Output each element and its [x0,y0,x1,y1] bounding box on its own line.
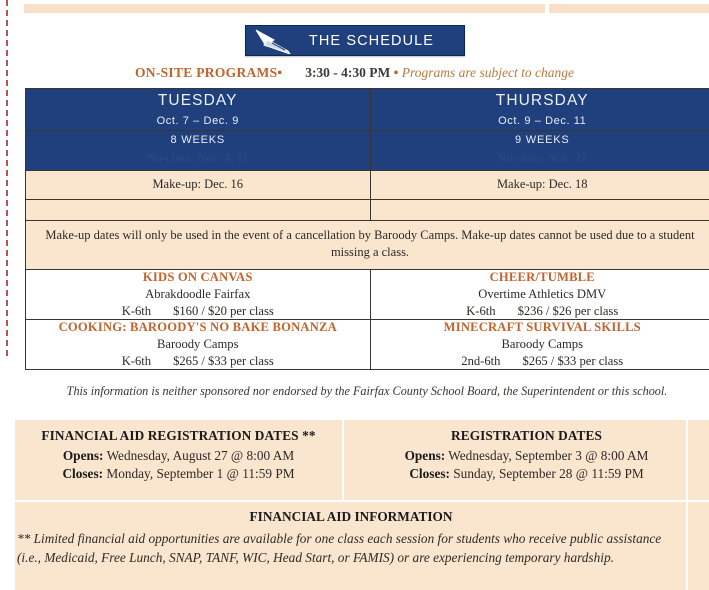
financial-aid-closes-line: Closes: Monday, September 1 @ 11:59 PM [15,465,342,483]
financial-aid-information-panel: FINANCIAL AID INFORMATION ** Limited fin… [15,502,709,590]
registration-dates-heading: REGISTRATION DATES [344,428,709,447]
class-cell-kids-on-canvas: KIDS ON CANVAS Abrakdoodle Fairfax K-6th… [26,269,371,319]
class-cell-cheer-tumble: CHEER/TUMBLE Overtime Athletics DMV K-6t… [370,269,709,319]
class-vendor: Baroody Camps [371,337,709,354]
table-row-classes-2: COOKING: BAROODY'S NO BAKE BONANZA Baroo… [26,319,709,369]
class-title: MINECRAFT SURVIVAL SKILLS [371,320,709,337]
schedule-banner: THE SCHEDULE [245,25,465,56]
schedule-table: TUESDAY Oct. 7 – Dec. 9 THURSDAY Oct. 9 … [25,88,709,370]
class-grades: K-6th [122,304,151,319]
registration-opens-label: Opens: [405,448,446,463]
class-price: $236 / $26 per class [518,304,619,318]
top-strip-segment-left [24,4,545,13]
onsite-programs-line: ON-SITE PROGRAMS• 3:30 - 4:30 PM • Progr… [0,65,709,81]
day-name-thursday: THURSDAY [371,89,709,113]
no-class-thursday: No-class: Nov. 27 [371,149,709,170]
weeks-cell-tuesday: 8 WEEKS No-class: Nov. 4, 11 [26,131,371,171]
registration-dates-row: FINANCIAL AID REGISTRATION DATES ** Open… [15,420,709,500]
financial-aid-registration-heading: FINANCIAL AID REGISTRATION DATES ** [15,428,342,447]
financial-aid-closes-label: Closes: [62,466,103,481]
class-price: $160 / $20 per class [173,304,274,318]
makeup-cell-thursday: Make-up: Dec. 18 [370,171,709,200]
class-grades: 2nd-6th [461,354,500,369]
subhead-bullet: • [394,65,399,80]
class-title: COOKING: BAROODY'S NO BAKE BONANZA [26,320,370,337]
schedule-banner-container: THE SCHEDULE [0,25,709,56]
financial-aid-opens-value: Wednesday, August 27 @ 8:00 AM [107,448,295,463]
weeks-tuesday: 8 WEEKS [26,131,370,149]
no-class-tuesday: No-class: Nov. 4, 11 [26,149,370,170]
class-grades: K-6th [122,354,151,369]
top-accent-strip [24,4,709,13]
class-pricing: 2nd-6th$265 / $33 per class [371,354,709,369]
makeup-date-tuesday: Make-up: Dec. 16 [26,171,370,199]
day-dates-thursday: Oct. 9 – Dec. 11 [371,113,709,130]
class-vendor: Overtime Athletics DMV [371,287,709,304]
weeks-cell-thursday: 9 WEEKS No-class: Nov. 27 [370,131,709,171]
makeup-note-cell: Make-up dates will only be used in the e… [26,221,709,270]
pencil-icon [254,28,298,54]
school-board-disclaimer: This information is neither sponsored no… [25,384,709,399]
table-row-spacer [26,200,709,221]
class-title: KIDS ON CANVAS [26,270,370,287]
class-pricing: K-6th$160 / $20 per class [26,304,370,319]
day-dates-tuesday: Oct. 7 – Dec. 9 [26,113,370,130]
class-pricing: K-6th$236 / $26 per class [371,304,709,319]
general-registration-panel: REGISTRATION DATES Opens: Wednesday, Sep… [344,420,709,500]
day-header-cell-tuesday: TUESDAY Oct. 7 – Dec. 9 [26,89,371,131]
financial-aid-information-heading: FINANCIAL AID INFORMATION [15,509,687,529]
top-strip-segment-right [549,4,709,13]
class-cell-cooking: COOKING: BAROODY'S NO BAKE BONANZA Baroo… [26,319,371,369]
registration-panels: FINANCIAL AID REGISTRATION DATES ** Open… [15,420,709,590]
makeup-date-thursday: Make-up: Dec. 18 [371,171,709,199]
registration-opens-value: Wednesday, September 3 @ 8:00 AM [448,448,648,463]
class-cell-minecraft: MINECRAFT SURVIVAL SKILLS Baroody Camps … [370,319,709,369]
registration-opens-line: Opens: Wednesday, September 3 @ 8:00 AM [344,447,709,465]
subject-to-change-note: Programs are subject to change [402,65,574,80]
registration-closes-label: Closes: [409,466,450,481]
day-header-cell-thursday: THURSDAY Oct. 9 – Dec. 11 [370,89,709,131]
day-name-tuesday: TUESDAY [26,89,370,113]
class-vendor: Abrakdoodle Fairfax [26,287,370,304]
financial-aid-information-body: ** Limited financial aid opportunities a… [15,529,687,568]
spacer-cell-left [26,200,371,221]
financial-aid-opens-line: Opens: Wednesday, August 27 @ 8:00 AM [15,447,342,465]
makeup-cell-tuesday: Make-up: Dec. 16 [26,171,371,200]
onsite-programs-label: ON-SITE PROGRAMS• [135,65,282,80]
registration-closes-line: Closes: Sunday, September 28 @ 11:59 PM [344,465,709,483]
financial-aid-opens-label: Opens: [63,448,104,463]
financial-aid-closes-value: Monday, September 1 @ 11:59 PM [106,466,294,481]
financial-aid-registration-panel: FINANCIAL AID REGISTRATION DATES ** Open… [15,420,342,500]
class-vendor: Baroody Camps [26,337,370,354]
weeks-thursday: 9 WEEKS [371,131,709,149]
class-price: $265 / $33 per class [522,354,623,368]
program-time: 3:30 - 4:30 PM [305,65,390,80]
table-row-makeup: Make-up: Dec. 16 Make-up: Dec. 18 [26,171,709,200]
class-title: CHEER/TUMBLE [371,270,709,287]
table-row-makeup-note: Make-up dates will only be used in the e… [26,221,709,270]
table-row-classes-1: KIDS ON CANVAS Abrakdoodle Fairfax K-6th… [26,269,709,319]
class-price: $265 / $33 per class [173,354,274,368]
class-grades: K-6th [466,304,495,319]
spacer-cell-right [370,200,709,221]
table-row-weeks: 8 WEEKS No-class: Nov. 4, 11 9 WEEKS No-… [26,131,709,171]
table-row-day-names: TUESDAY Oct. 7 – Dec. 9 THURSDAY Oct. 9 … [26,89,709,131]
class-pricing: K-6th$265 / $33 per class [26,354,370,369]
registration-closes-value: Sunday, September 28 @ 11:59 PM [453,466,643,481]
